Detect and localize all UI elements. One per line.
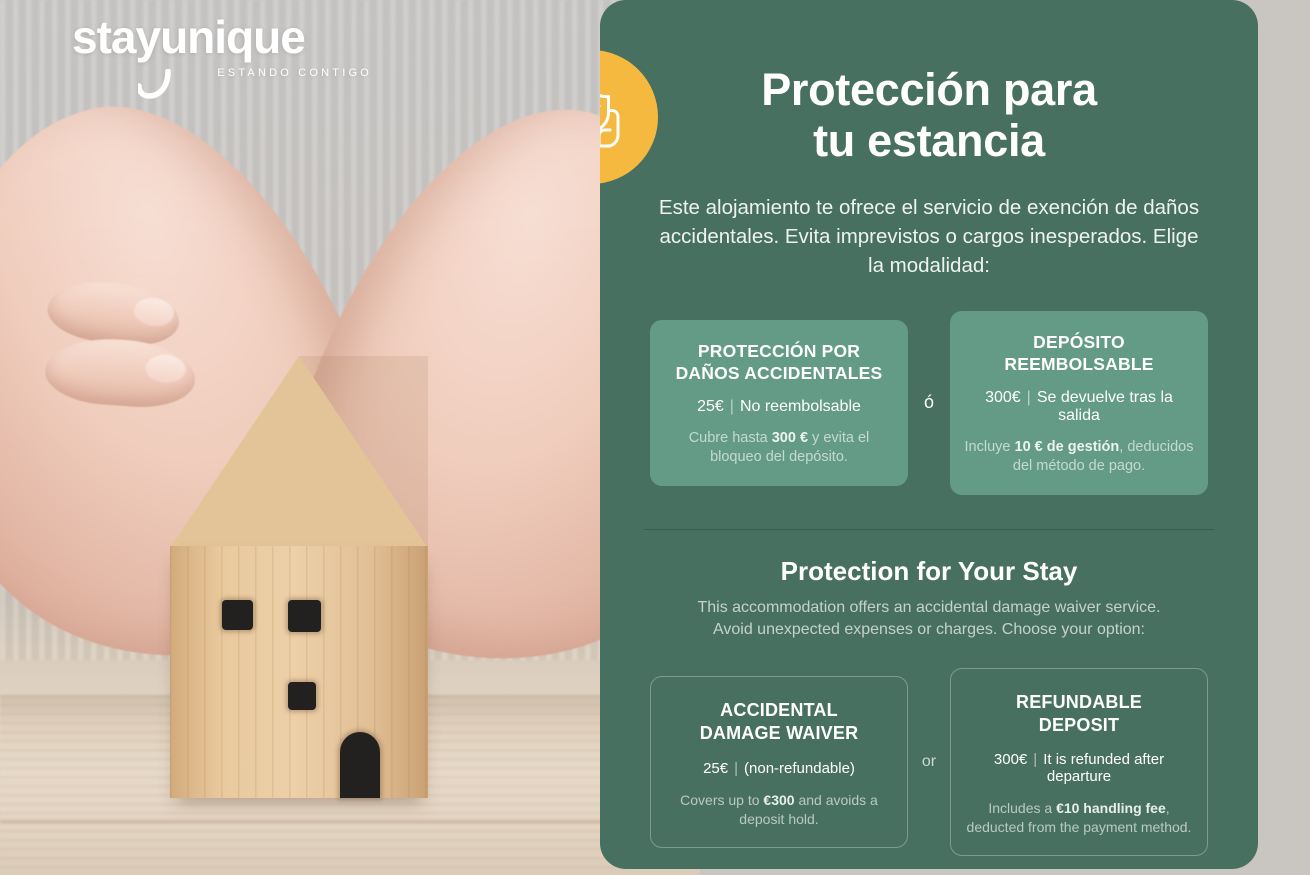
card-title: ACCIDENTAL DAMAGE WAIVER	[665, 699, 893, 744]
house-window	[288, 600, 321, 632]
price-divider: |	[734, 760, 738, 777]
footnote-prefix: Covers up to	[680, 792, 763, 808]
footnote-prefix: Includes a	[988, 800, 1056, 816]
card-price-row: 25€|No reembolsable	[664, 398, 894, 416]
card-title: PROTECCIÓN POR DAÑOS ACCIDENTALES	[664, 340, 894, 384]
house-window	[288, 682, 316, 710]
card-price-note: No reembolsable	[740, 398, 861, 415]
card-title-line-2: DEPOSIT	[965, 714, 1193, 737]
house-window	[222, 600, 253, 630]
card-footnote: Incluye 10 € de gestión, deducidos del m…	[964, 438, 1194, 477]
card-title-line-2: REEMBOLSABLE	[964, 353, 1194, 375]
hero-photo	[0, 0, 700, 875]
card-price-row: 300€|Se devuelve tras la salida	[964, 389, 1194, 425]
footnote-prefix: Cubre hasta	[689, 430, 772, 446]
title-line-2: tu estancia	[644, 115, 1214, 166]
options-group-en: ACCIDENTAL DAMAGE WAIVER 25€|(non-refund…	[644, 668, 1214, 856]
card-title-line-2: DAÑOS ACCIDENTALES	[664, 362, 894, 384]
card-title-line-2: DAMAGE WAIVER	[665, 722, 893, 745]
card-price-amount: 300€	[985, 389, 1021, 406]
house-roof-shading	[170, 356, 428, 548]
fingernail	[132, 296, 175, 329]
footnote-highlight: €300	[763, 792, 794, 808]
protection-panel: Protección para tu estancia Este alojami…	[600, 0, 1258, 869]
card-title: DEPÓSITO REEMBOLSABLE	[964, 331, 1194, 375]
wooden-house-model	[170, 358, 428, 798]
wood-grain	[170, 546, 428, 798]
card-price-note: Se devuelve tras la salida	[1037, 389, 1173, 424]
price-divider: |	[730, 398, 734, 415]
title-line-1: Protección para	[644, 64, 1214, 115]
price-divider: |	[1027, 389, 1031, 406]
option-card-refundable-deposit-es[interactable]: DEPÓSITO REEMBOLSABLE 300€|Se devuelve t…	[950, 311, 1208, 496]
footnote-prefix: Incluye	[965, 439, 1015, 455]
option-separator-en: or	[908, 753, 950, 771]
card-price-note: (non-refundable)	[744, 760, 855, 777]
section-title-en: Protection for Your Stay	[644, 556, 1214, 587]
card-price-row: 300€|It is refunded after departure	[965, 751, 1193, 785]
page-title: Protección para tu estancia	[644, 64, 1214, 167]
option-card-refundable-deposit-en[interactable]: REFUNDABLE DEPOSIT 300€|It is refunded a…	[950, 668, 1208, 856]
card-title-line-1: REFUNDABLE	[965, 691, 1193, 714]
logo-wordmark: stayunique	[72, 14, 372, 60]
card-price-amount: 25€	[703, 760, 728, 777]
house-door	[340, 732, 380, 798]
logo-secondary-text: unique	[160, 11, 305, 63]
card-title-line-1: DEPÓSITO	[964, 331, 1194, 353]
logo-tagline: ESTANDO CONTIGO	[72, 67, 372, 79]
house-body	[170, 546, 428, 798]
card-price-amount: 25€	[697, 398, 724, 415]
option-card-accidental-damage-es[interactable]: PROTECCIÓN POR DAÑOS ACCIDENTALES 25€|No…	[650, 320, 908, 487]
table-edge-line	[0, 820, 700, 823]
price-divider: |	[1033, 751, 1037, 768]
footnote-highlight: 10 € de gestión	[1015, 439, 1120, 455]
intro-text-es: Este alojamiento te ofrece el servicio d…	[656, 193, 1202, 281]
card-price-amount: 300€	[994, 751, 1027, 768]
card-price-row: 25€|(non-refundable)	[665, 760, 893, 777]
section-divider	[644, 529, 1214, 530]
brand-logo[interactable]: stayunique ESTANDO CONTIGO	[72, 14, 372, 79]
footnote-highlight: 300 €	[772, 430, 808, 446]
page-root: stayunique ESTANDO CONTIGO Protección pa…	[0, 0, 1310, 875]
option-separator-es: ó	[908, 392, 950, 413]
card-footnote: Includes a €10 handling fee, deducted fr…	[965, 799, 1193, 837]
card-title: REFUNDABLE DEPOSIT	[965, 691, 1193, 736]
card-title-line-1: ACCIDENTAL	[665, 699, 893, 722]
logo-primary-text: stay	[72, 11, 160, 63]
footnote-highlight: €10 handling fee	[1056, 800, 1166, 816]
card-footnote: Cubre hasta 300 € y evita el bloqueo del…	[664, 429, 894, 468]
intro-text-en: This accommodation offers an accidental …	[694, 597, 1164, 642]
options-group-es: PROTECCIÓN POR DAÑOS ACCIDENTALES 25€|No…	[644, 311, 1214, 496]
option-card-accidental-damage-en[interactable]: ACCIDENTAL DAMAGE WAIVER 25€|(non-refund…	[650, 676, 908, 847]
card-price-note: It is refunded after departure	[1043, 751, 1164, 785]
card-footnote: Covers up to €300 and avoids a deposit h…	[665, 791, 893, 829]
card-title-line-1: PROTECCIÓN POR	[664, 340, 894, 362]
